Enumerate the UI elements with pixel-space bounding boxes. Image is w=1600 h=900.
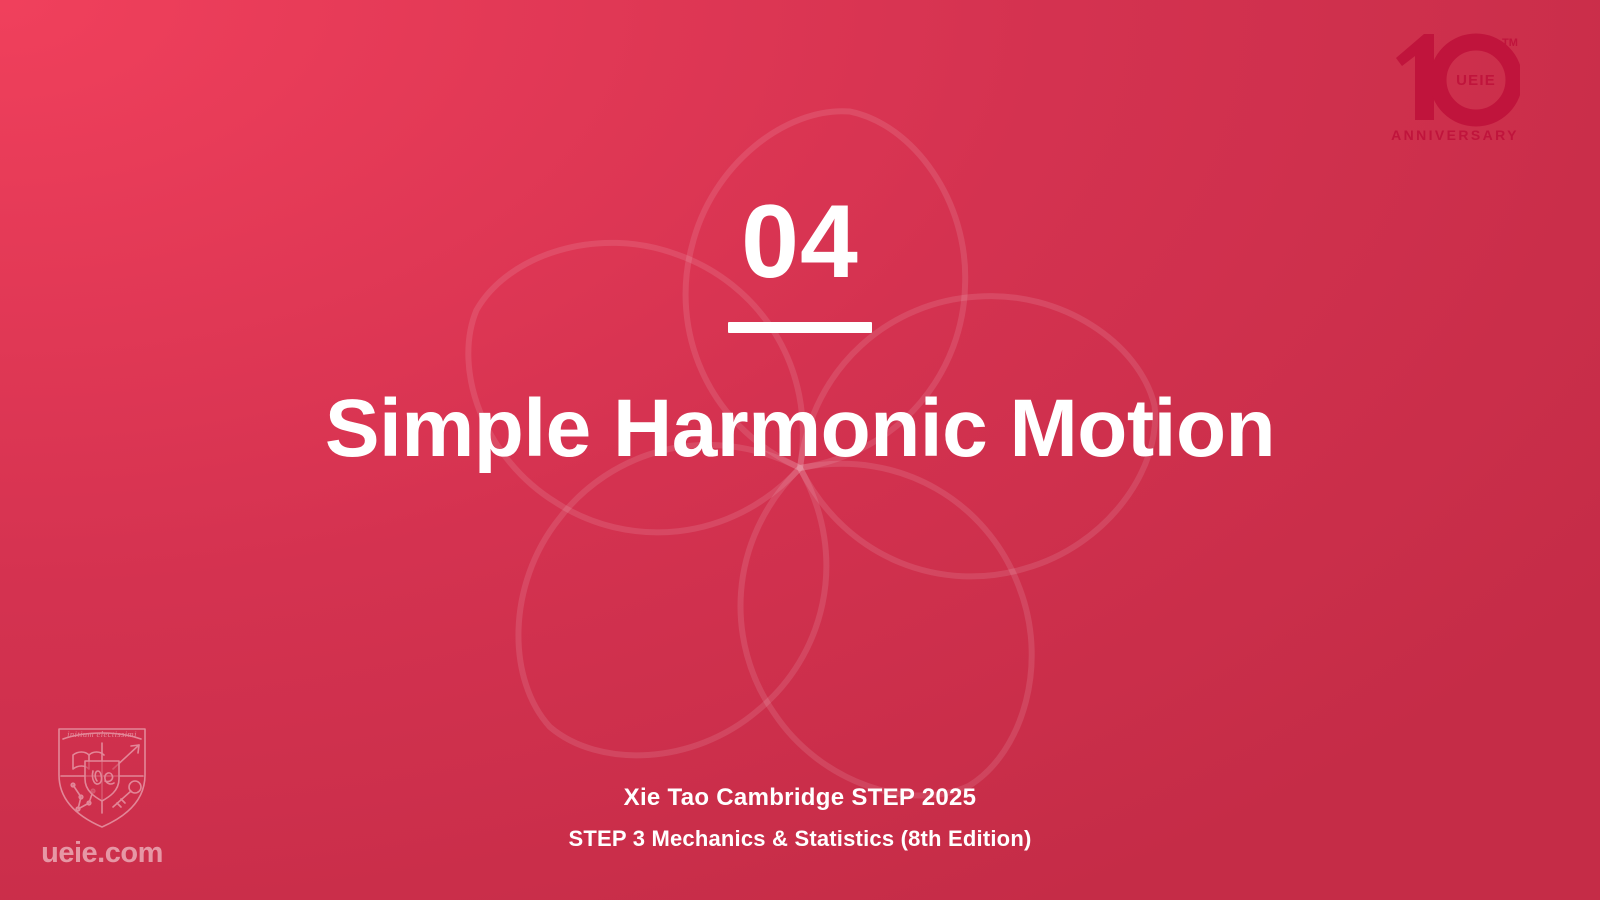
footer-edition-line: STEP 3 Mechanics & Statistics (8th Editi…: [0, 826, 1600, 852]
page-title: Simple Harmonic Motion: [0, 385, 1600, 474]
section-number: 04: [0, 190, 1600, 294]
brand-website: ueie.com: [32, 837, 172, 870]
slide-center-block: 04 Simple Harmonic Motion: [0, 0, 1600, 474]
slide-footer: Xie Tao Cambridge STEP 2025 STEP 3 Mecha…: [0, 784, 1600, 852]
ueie-crest-icon: initium electissimi: [47, 713, 157, 833]
crest-motto: initium electissimi: [67, 729, 137, 739]
brand-block: initium electissimi ueie.com: [32, 713, 172, 870]
footer-course-line: Xie Tao Cambridge STEP 2025: [0, 784, 1600, 812]
slide-canvas: UEIE TM ANNIVERSARY 04 Simple Harmonic M…: [0, 0, 1600, 900]
section-number-underline: [728, 322, 872, 333]
